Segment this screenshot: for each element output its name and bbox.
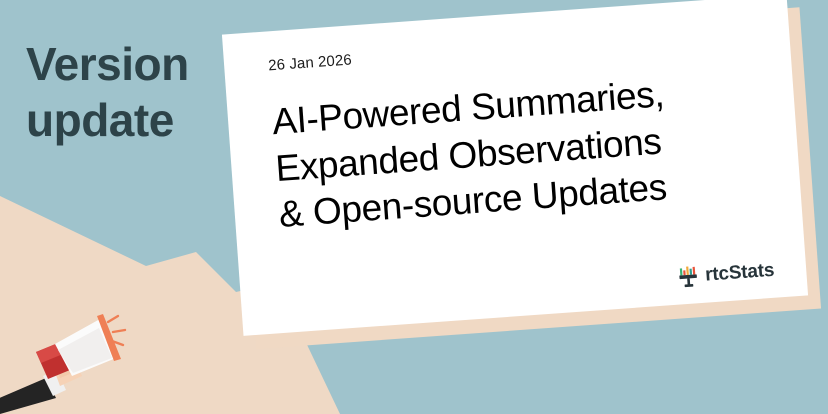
rtcstats-logo[interactable]: rtcStats [678, 260, 775, 289]
bar-chart-plug-icon [678, 265, 700, 288]
card-heading: AI-Powered Summaries, Expanded Observati… [271, 64, 780, 239]
card-surface: 26 Jan 2026 AI-Powered Summaries, Expand… [222, 0, 808, 336]
page-title: Version update [26, 36, 241, 148]
megaphone-illustration [0, 294, 150, 414]
publish-date: 26 Jan 2026 [268, 51, 353, 74]
logo-text: rtcStats [704, 260, 775, 287]
page-title-line-1: Version [26, 36, 241, 92]
version-update-banner: Version update 26 Jan 2026 AI-Powered Su… [0, 0, 828, 414]
announcement-card: 26 Jan 2026 AI-Powered Summaries, Expand… [222, 0, 808, 336]
page-title-line-2: update [26, 92, 241, 148]
